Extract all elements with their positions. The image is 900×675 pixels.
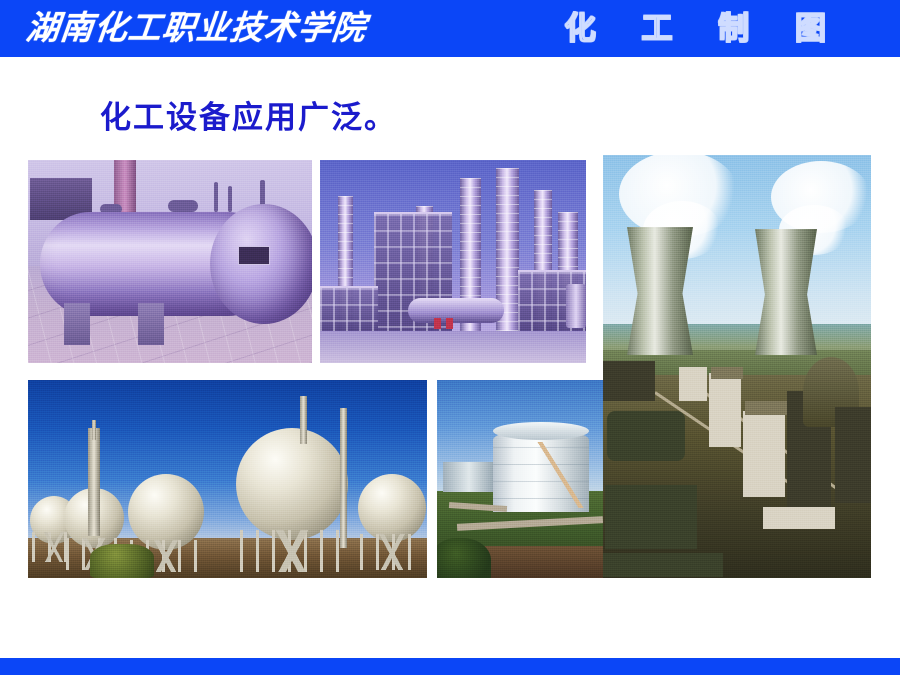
photo-power-plant — [603, 155, 871, 578]
photo-spherical-tanks — [28, 380, 427, 578]
photo-refinery — [320, 160, 586, 363]
vessel-vent-pipe-1 — [214, 182, 218, 212]
institution-title: 湖南化工职业技术学院 — [23, 5, 388, 53]
vessel-nameplate — [238, 246, 270, 265]
sphere-1-downcomer-pipe — [340, 408, 347, 548]
plant-building-1 — [709, 373, 741, 447]
tank-spiral-stair — [533, 442, 591, 508]
vessel-manway-flange — [168, 200, 198, 212]
storage-sphere-2-legs — [360, 534, 424, 570]
course-title: 化 工 制 图 — [565, 6, 845, 52]
plant-building-2-roof — [745, 401, 787, 415]
plant-building-1-roof — [711, 367, 743, 379]
refinery-red-equipment-2 — [446, 318, 453, 329]
refinery-ground-pad — [320, 331, 586, 363]
photo-pressure-vessel — [28, 160, 312, 363]
refinery-red-equipment-1 — [434, 318, 441, 329]
plant-lawn-2 — [605, 485, 697, 549]
refinery-vertical-drum — [566, 284, 586, 328]
vessel-saddle-right — [138, 303, 164, 345]
storage-sphere-1 — [236, 428, 348, 540]
storage-tank-scene — [437, 380, 603, 578]
vessel-saddle-left — [64, 303, 90, 345]
slide-heading: 化工设备应用广泛。 — [100, 92, 397, 137]
power-plant-scene — [603, 155, 871, 578]
sphere-1-riser-pipe — [300, 396, 307, 444]
photo-storage-tank — [437, 380, 603, 578]
storage-sphere-3 — [128, 474, 204, 550]
storage-sphere-2 — [358, 474, 426, 542]
plant-building-4 — [679, 367, 707, 401]
header-bar: 湖南化工职业技术学院 化 工 制 图 — [0, 0, 900, 57]
tank-primary-roof — [493, 422, 589, 440]
tank-secondary — [443, 462, 495, 492]
spheres-foreground-shrub — [90, 544, 154, 578]
plant-building-6 — [763, 507, 835, 529]
tank-foreground-tree — [437, 538, 491, 578]
refinery-pipe-rack-left — [320, 286, 378, 331]
plant-building-switchyard — [603, 361, 655, 401]
spherical-tanks-scene — [28, 380, 427, 578]
spheres-distillation-column — [88, 428, 100, 536]
vessel-vent-pipe-2 — [228, 186, 232, 212]
refinery-scene — [320, 160, 586, 363]
plant-building-2 — [743, 411, 785, 497]
refinery-heat-exchanger — [408, 298, 504, 323]
pressure-vessel-scene — [28, 160, 312, 363]
plant-lawn-3 — [603, 553, 723, 577]
spheres-column-vent — [92, 420, 96, 440]
storage-sphere-1-legs — [240, 530, 344, 572]
footer-bar — [0, 658, 900, 675]
plant-building-5 — [835, 407, 871, 503]
plant-lawn-1 — [607, 411, 685, 461]
